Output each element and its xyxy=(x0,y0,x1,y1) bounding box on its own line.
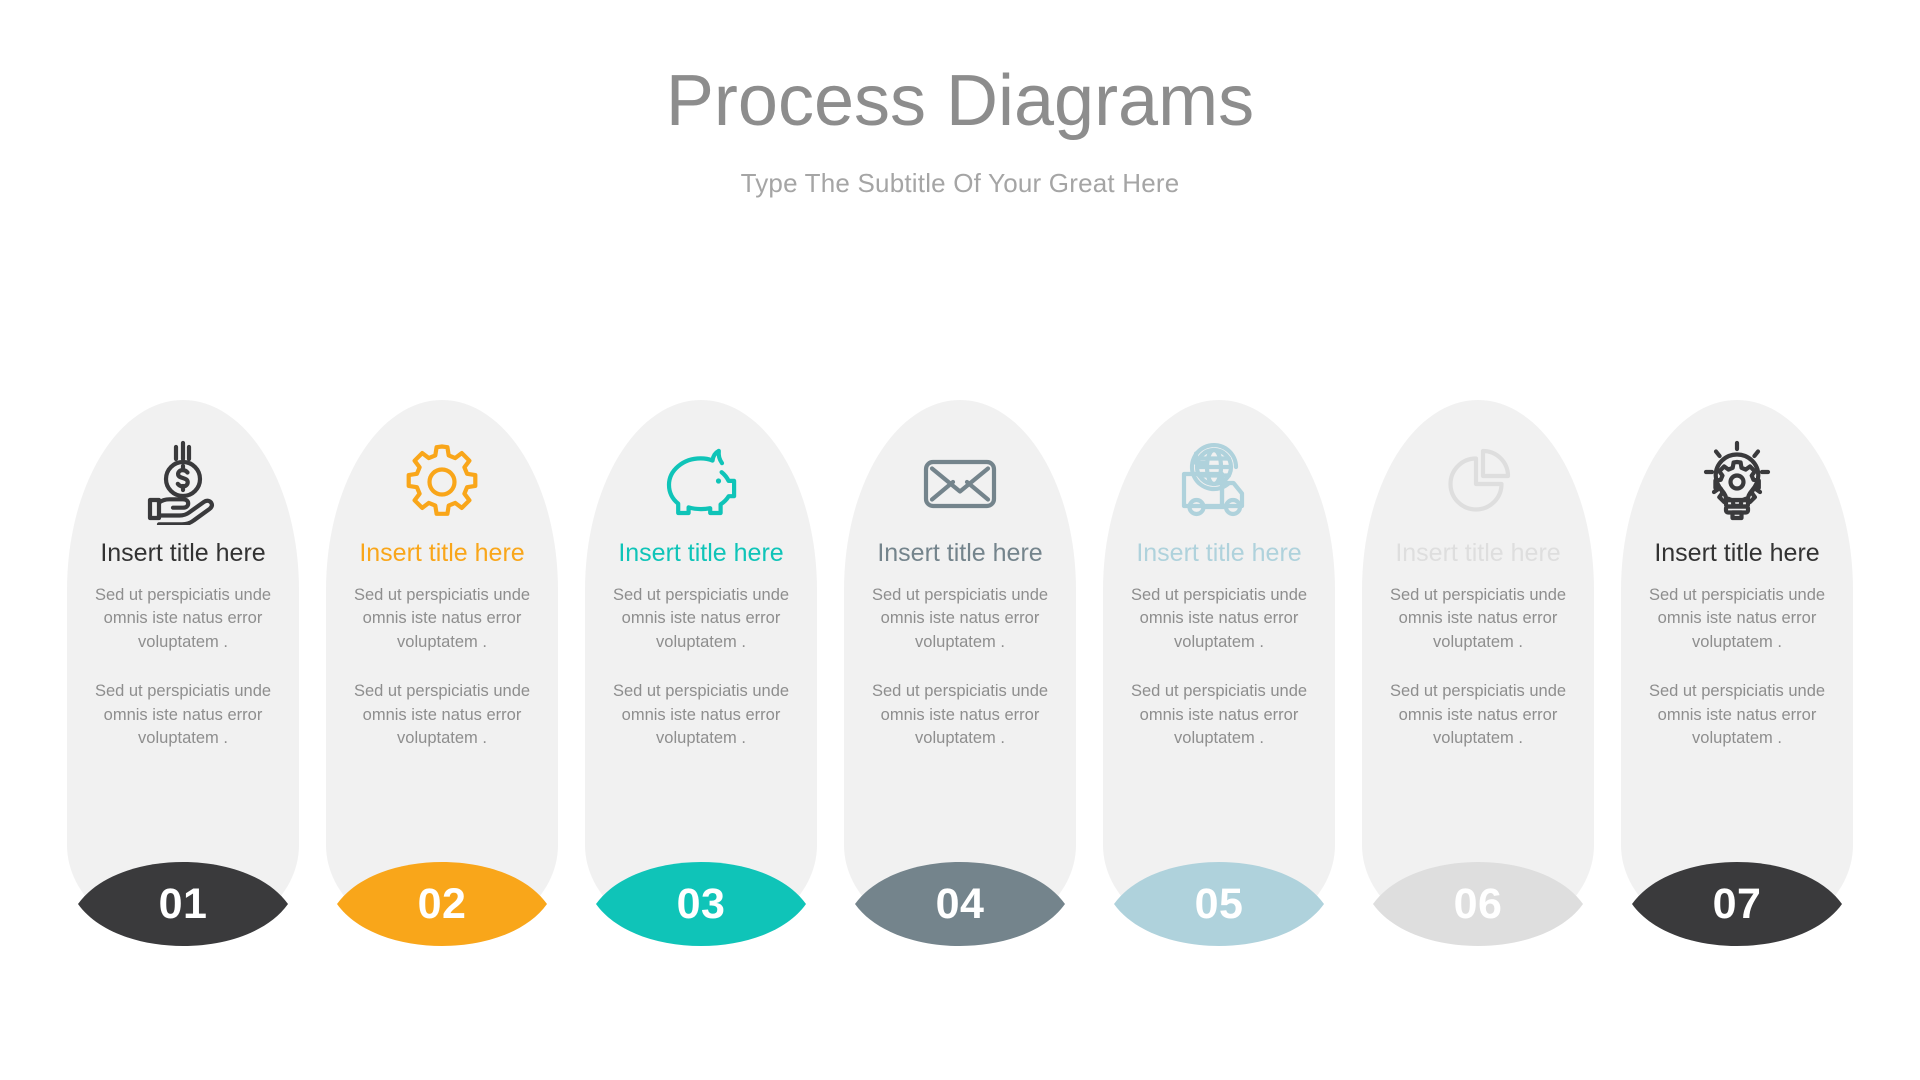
card-body-paragraph-2: Sed ut perspiciatis unde omnis iste natu… xyxy=(344,680,540,750)
step-number-label: 03 xyxy=(596,856,806,952)
card-body-paragraph-2: Sed ut perspiciatis unde omnis iste natu… xyxy=(1121,680,1317,750)
process-diagram-slide: Process Diagrams Type The Subtitle Of Yo… xyxy=(0,0,1920,1080)
process-step-card[interactable]: Insert title hereSed ut perspiciatis und… xyxy=(1103,400,1335,940)
delivery-truck-globe-icon xyxy=(1175,438,1263,526)
step-number-badge[interactable]: 04 xyxy=(855,856,1065,952)
card-body-paragraph-2: Sed ut perspiciatis unde omnis iste natu… xyxy=(85,680,281,750)
page-title: Process Diagrams xyxy=(0,62,1920,141)
step-number-label: 02 xyxy=(337,856,547,952)
process-step-card[interactable]: Insert title hereSed ut perspiciatis und… xyxy=(585,400,817,940)
process-step-cards: Insert title hereSed ut perspiciatis und… xyxy=(0,400,1920,960)
piggy-bank-icon xyxy=(657,438,745,526)
card-title: Insert title here xyxy=(100,538,265,568)
process-step-card[interactable]: Insert title hereSed ut perspiciatis und… xyxy=(67,400,299,940)
step-number-badge[interactable]: 01 xyxy=(78,856,288,952)
card-title: Insert title here xyxy=(1395,538,1560,568)
step-number-badge[interactable]: 03 xyxy=(596,856,806,952)
step-number-label: 01 xyxy=(78,856,288,952)
envelope-icon xyxy=(916,438,1004,526)
card-title: Insert title here xyxy=(877,538,1042,568)
card-body-paragraph-1: Sed ut perspiciatis unde omnis iste natu… xyxy=(1639,584,1835,654)
card-body-paragraph-2: Sed ut perspiciatis unde omnis iste natu… xyxy=(603,680,799,750)
card-body-paragraph-1: Sed ut perspiciatis unde omnis iste natu… xyxy=(344,584,540,654)
step-number-label: 05 xyxy=(1114,856,1324,952)
card-body-paragraph-2: Sed ut perspiciatis unde omnis iste natu… xyxy=(862,680,1058,750)
process-step-card[interactable]: Insert title hereSed ut perspiciatis und… xyxy=(844,400,1076,940)
card-title: Insert title here xyxy=(1654,538,1819,568)
process-step-card[interactable]: Insert title hereSed ut perspiciatis und… xyxy=(1362,400,1594,940)
card-title: Insert title here xyxy=(1136,538,1301,568)
step-number-badge[interactable]: 07 xyxy=(1632,856,1842,952)
page-subtitle: Type The Subtitle Of Your Great Here xyxy=(0,168,1920,199)
card-body-paragraph-1: Sed ut perspiciatis unde omnis iste natu… xyxy=(1121,584,1317,654)
step-number-badge[interactable]: 06 xyxy=(1373,856,1583,952)
step-number-label: 04 xyxy=(855,856,1065,952)
step-number-label: 06 xyxy=(1373,856,1583,952)
process-step-card[interactable]: Insert title hereSed ut perspiciatis und… xyxy=(326,400,558,940)
hand-holding-coin-icon xyxy=(139,438,227,526)
card-body-paragraph-1: Sed ut perspiciatis unde omnis iste natu… xyxy=(85,584,281,654)
card-body-paragraph-1: Sed ut perspiciatis unde omnis iste natu… xyxy=(1380,584,1576,654)
gear-icon xyxy=(398,438,486,526)
step-number-badge[interactable]: 05 xyxy=(1114,856,1324,952)
card-title: Insert title here xyxy=(618,538,783,568)
step-number-label: 07 xyxy=(1632,856,1842,952)
process-step-card[interactable]: Insert title hereSed ut perspiciatis und… xyxy=(1621,400,1853,940)
slide-header: Process Diagrams Type The Subtitle Of Yo… xyxy=(0,62,1920,199)
card-body-paragraph-1: Sed ut perspiciatis unde omnis iste natu… xyxy=(603,584,799,654)
card-body-paragraph-2: Sed ut perspiciatis unde omnis iste natu… xyxy=(1380,680,1576,750)
card-body-paragraph-2: Sed ut perspiciatis unde omnis iste natu… xyxy=(1639,680,1835,750)
step-number-badge[interactable]: 02 xyxy=(337,856,547,952)
pie-chart-icon xyxy=(1434,438,1522,526)
lightbulb-gear-icon xyxy=(1693,438,1781,526)
card-body-paragraph-1: Sed ut perspiciatis unde omnis iste natu… xyxy=(862,584,1058,654)
card-title: Insert title here xyxy=(359,538,524,568)
